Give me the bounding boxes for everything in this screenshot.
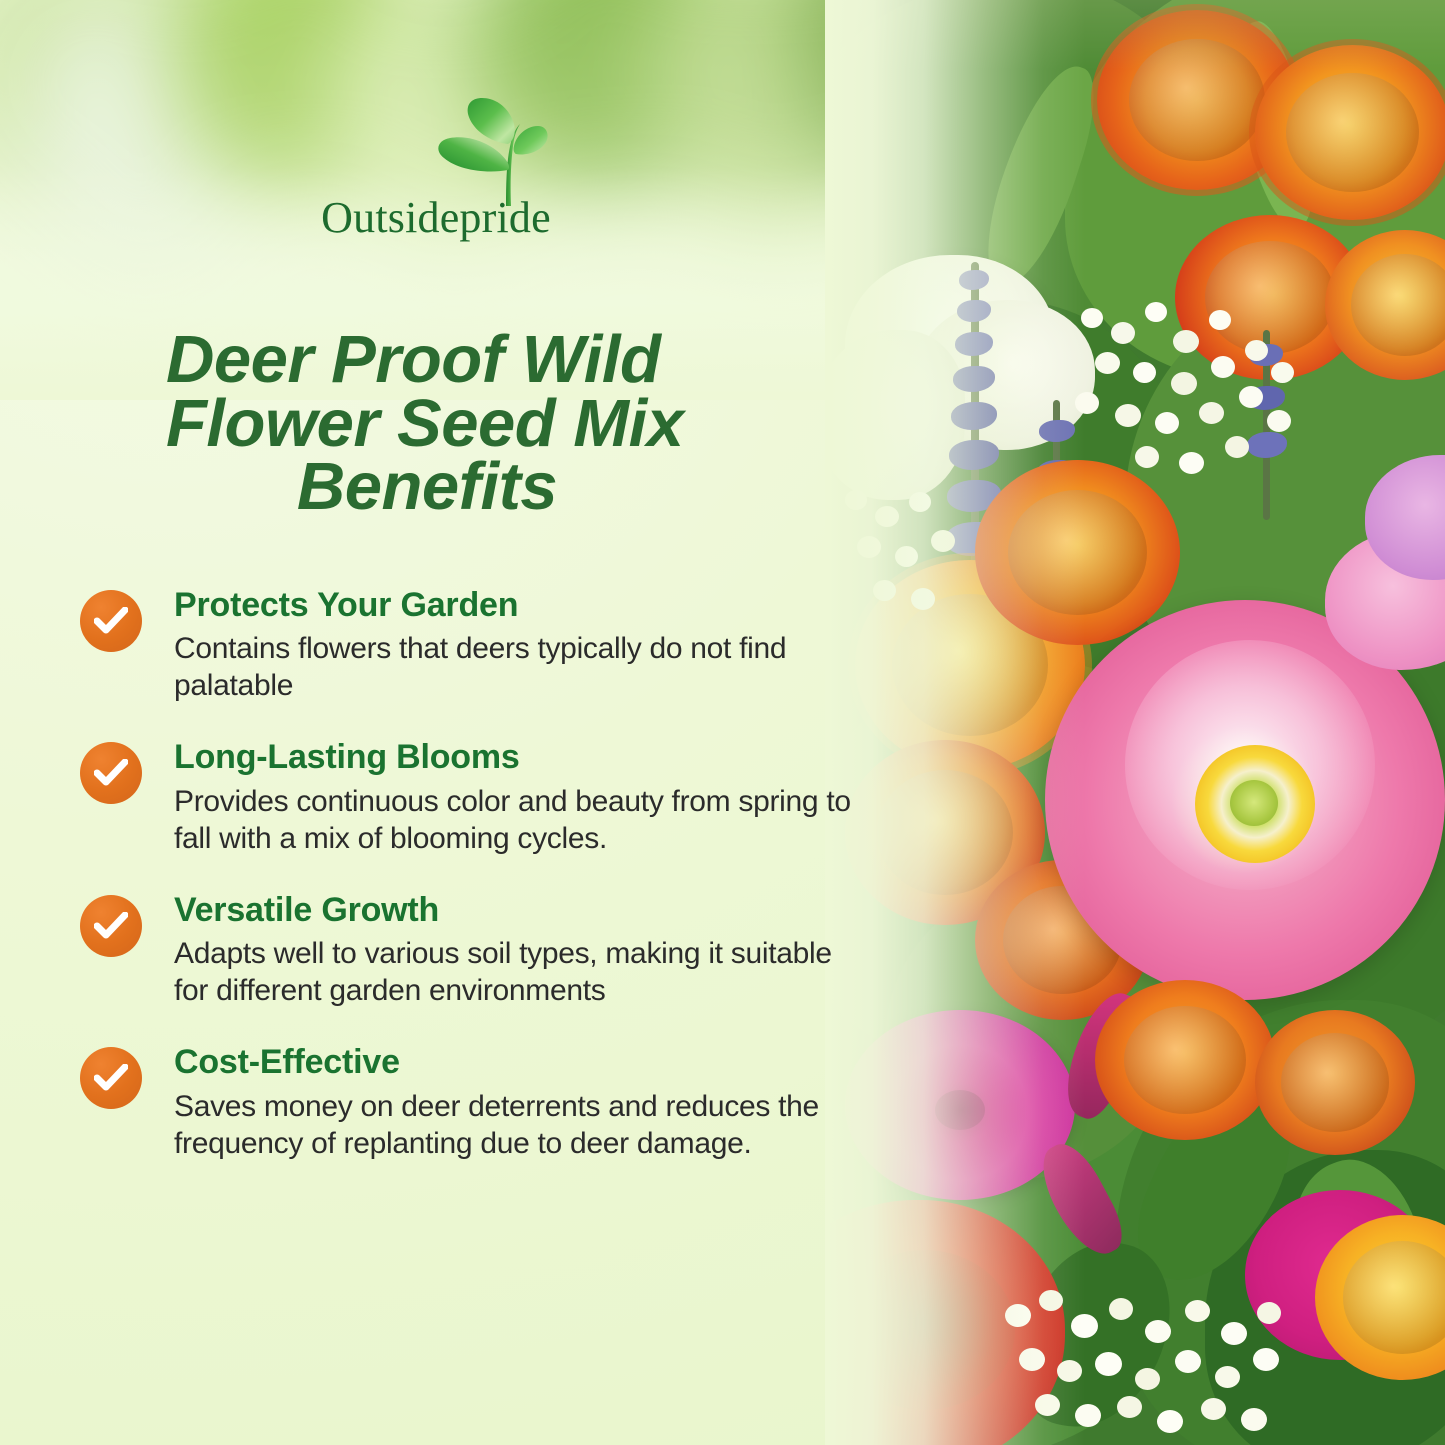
check-circle-icon [80, 895, 142, 957]
benefit-item-protects-your-garden: Protects Your Garden Contains flowers th… [80, 586, 870, 704]
check-circle-icon [80, 1047, 142, 1109]
wildflower-garden-photo [825, 0, 1445, 1445]
infographic-canvas: Outsidepride Deer Proof Wild Flower Seed… [0, 0, 1445, 1445]
benefits-list: Protects Your Garden Contains flowers th… [80, 586, 870, 1196]
check-circle-icon [80, 742, 142, 804]
benefit-title: Long-Lasting Blooms [174, 738, 870, 777]
benefit-title: Cost-Effective [174, 1043, 870, 1082]
brand-logo: Outsidepride [286, 96, 586, 261]
benefit-description: Adapts well to various soil types, makin… [174, 935, 870, 1009]
benefit-title: Versatile Growth [174, 891, 870, 930]
benefit-description: Contains flowers that deers typically do… [174, 630, 870, 704]
headline-line-3: Benefits [166, 455, 806, 519]
benefit-description: Provides continuous color and beauty fro… [174, 783, 870, 857]
page-title: Deer Proof Wild Flower Seed Mix Benefits [166, 328, 806, 519]
seedling-leaf-icon [428, 96, 560, 206]
check-circle-icon [80, 590, 142, 652]
benefit-item-cost-effective: Cost-Effective Saves money on deer deter… [80, 1043, 870, 1161]
benefit-item-versatile-growth: Versatile Growth Adapts well to various … [80, 891, 870, 1009]
benefit-description: Saves money on deer deterrents and reduc… [174, 1088, 870, 1162]
brand-wordmark: Outsidepride [286, 196, 586, 240]
benefit-item-long-lasting-blooms: Long-Lasting Blooms Provides continuous … [80, 738, 870, 856]
benefit-title: Protects Your Garden [174, 586, 870, 625]
